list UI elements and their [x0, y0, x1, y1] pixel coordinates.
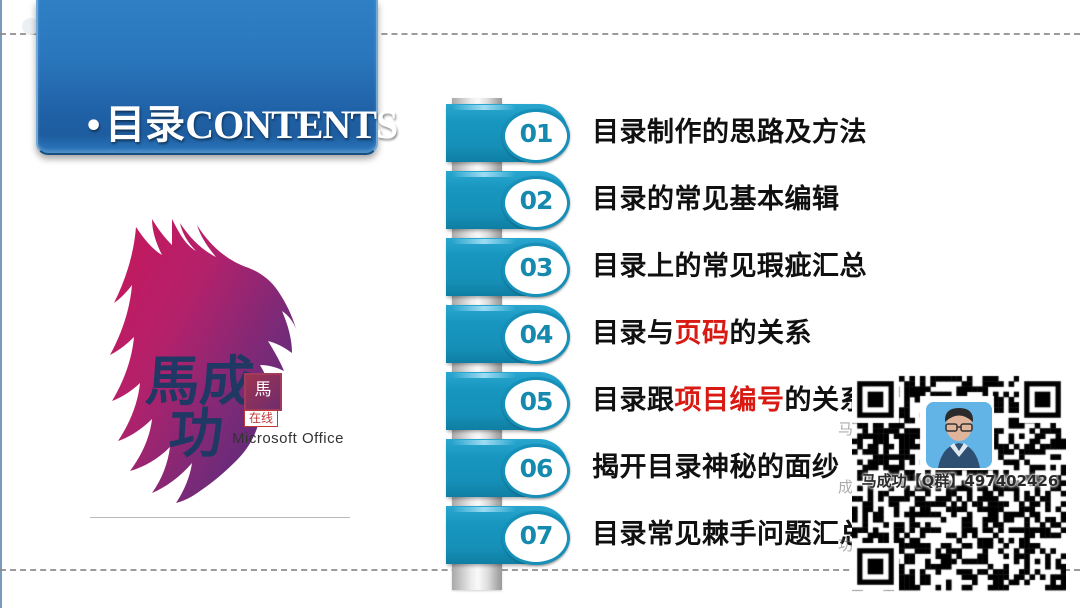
contents-item-02[interactable]: 02目录的常见基本编辑	[440, 171, 910, 229]
item-number-badge: 07	[502, 511, 570, 565]
qr-code-block[interactable]: 马成功【Q群】497402426	[852, 372, 1066, 594]
item-label-part: 目录的常见基本编辑	[592, 184, 840, 215]
item-label-part: 目录与	[592, 318, 675, 349]
item-label-highlight: 项目编号	[675, 385, 785, 416]
item-label: 目录制作的思路及方法	[592, 112, 867, 154]
item-number-badge: 04	[502, 310, 570, 364]
title-bullet-icon: •	[84, 109, 103, 144]
contents-item-04[interactable]: 04目录与页码的关系	[440, 305, 910, 363]
logo-online-badge: 在线	[244, 410, 278, 427]
item-label: 目录与页码的关系	[592, 313, 812, 355]
item-label: 目录常见棘手问题汇总	[592, 514, 867, 556]
item-label-tail: 的关系	[730, 318, 813, 349]
title-cn: 目录	[105, 102, 185, 148]
contents-item-03[interactable]: 03目录上的常见瑕疵汇总	[440, 238, 910, 296]
item-label-part: 目录跟	[592, 385, 675, 416]
title-en: CONTENTS	[185, 102, 397, 147]
item-number-badge: 02	[502, 176, 570, 230]
item-label: 目录上的常见瑕疵汇总	[592, 246, 867, 288]
item-label-part: 目录制作的思路及方法	[592, 117, 867, 148]
qr-caption: 马成功【Q群】497402426	[850, 470, 1070, 491]
item-number-badge: 05	[502, 377, 570, 431]
presentation-slide: •目录CONTENTS 馬成功 馬 在线 Microsoft Office 01…	[0, 0, 1080, 608]
contents-item-01[interactable]: 01目录制作的思路及方法	[440, 104, 910, 162]
item-number-badge: 03	[502, 243, 570, 297]
item-label: 目录的常见基本编辑	[592, 179, 840, 221]
title-plate: •目录CONTENTS	[36, 0, 378, 155]
brand-logo: 馬成功 馬 在线 Microsoft Office	[96, 205, 366, 535]
avatar	[924, 400, 994, 470]
logo-divider	[90, 517, 350, 518]
item-number-badge: 01	[502, 109, 570, 163]
item-label-part: 目录常见棘手问题汇总	[592, 519, 867, 550]
item-label: 目录跟项目编号的关系	[592, 380, 867, 422]
item-label: 揭开目录神秘的面纱	[592, 447, 840, 489]
item-label-part: 目录上的常见瑕疵汇总	[592, 251, 867, 282]
item-number-badge: 06	[502, 444, 570, 498]
logo-seal-icon: 馬	[244, 373, 282, 411]
item-label-highlight: 页码	[675, 318, 730, 349]
item-label-part: 揭开目录神秘的面纱	[592, 452, 840, 483]
logo-product-name: Microsoft Office	[232, 430, 344, 447]
left-edge-guide	[0, 0, 2, 608]
page-title: •目录CONTENTS	[84, 92, 397, 150]
